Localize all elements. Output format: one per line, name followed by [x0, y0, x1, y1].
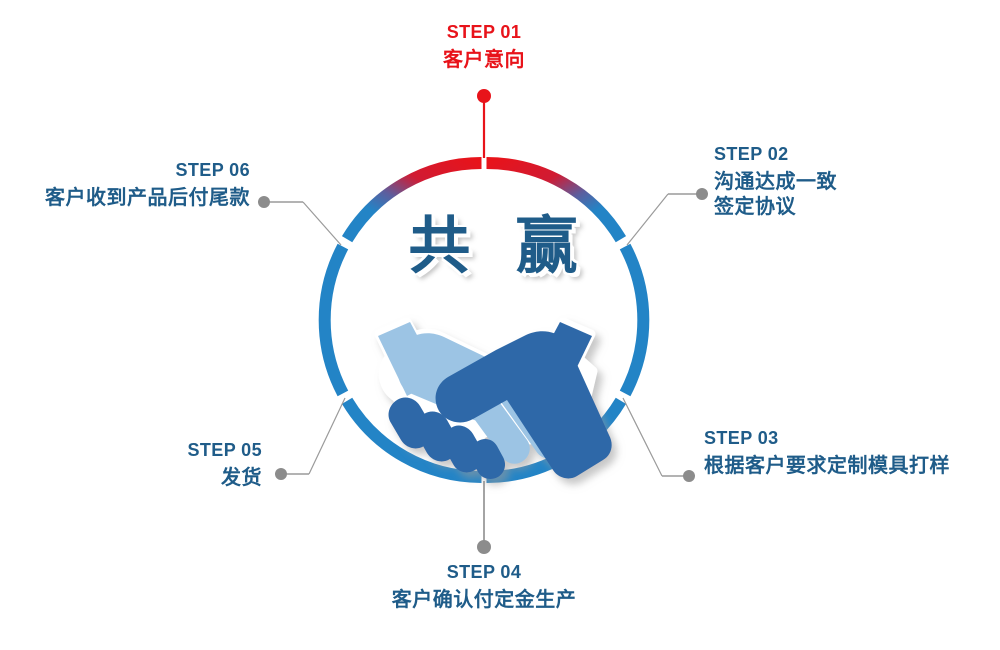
step-title-02-line2: 签定协议: [714, 195, 837, 219]
step-number-04: STEP 04: [384, 562, 584, 584]
infographic-canvas: 共 赢 STEP 01 客户意向 STEP 02 沟通达成一致 签定协议 STE…: [0, 0, 1000, 650]
step-title-04: 客户确认付定金生产: [384, 588, 584, 612]
step-label-01[interactable]: STEP 01 客户意向: [384, 22, 584, 72]
step-number-06: STEP 06: [10, 160, 250, 182]
connector-dot-step05: [275, 468, 287, 480]
step-label-03[interactable]: STEP 03 根据客户要求定制模具打样: [704, 428, 950, 478]
connector-dot-step06: [258, 196, 270, 208]
connector-step03: [623, 398, 695, 482]
connector-dot-step02: [696, 188, 708, 200]
connector-step04: [477, 481, 491, 554]
step-label-04[interactable]: STEP 04 客户确认付定金生产: [384, 562, 584, 612]
step-number-02: STEP 02: [714, 144, 837, 166]
step-number-01: STEP 01: [384, 22, 584, 44]
connector-step01: [477, 89, 491, 158]
step-title-02-line1: 沟通达成一致: [714, 170, 837, 194]
connector-dot-step03: [683, 470, 695, 482]
step-number-05: STEP 05: [110, 440, 262, 462]
center-title: 共 赢: [0, 216, 1000, 278]
circular-diagram-svg: [0, 0, 1000, 650]
step-title-05: 发货: [110, 466, 262, 490]
step-label-02[interactable]: STEP 02 沟通达成一致 签定协议: [714, 144, 837, 220]
step-title-01: 客户意向: [384, 48, 584, 72]
step-title-06: 客户收到产品后付尾款: [10, 186, 250, 210]
step-title-03: 根据客户要求定制模具打样: [704, 454, 950, 478]
connector-dot-step04: [477, 540, 491, 554]
step-label-06[interactable]: STEP 06 客户收到产品后付尾款: [10, 160, 250, 210]
step-label-05[interactable]: STEP 05 发货: [110, 440, 262, 490]
connector-step05: [275, 398, 345, 480]
step-number-03: STEP 03: [704, 428, 950, 450]
connector-dot-step01: [477, 89, 491, 103]
